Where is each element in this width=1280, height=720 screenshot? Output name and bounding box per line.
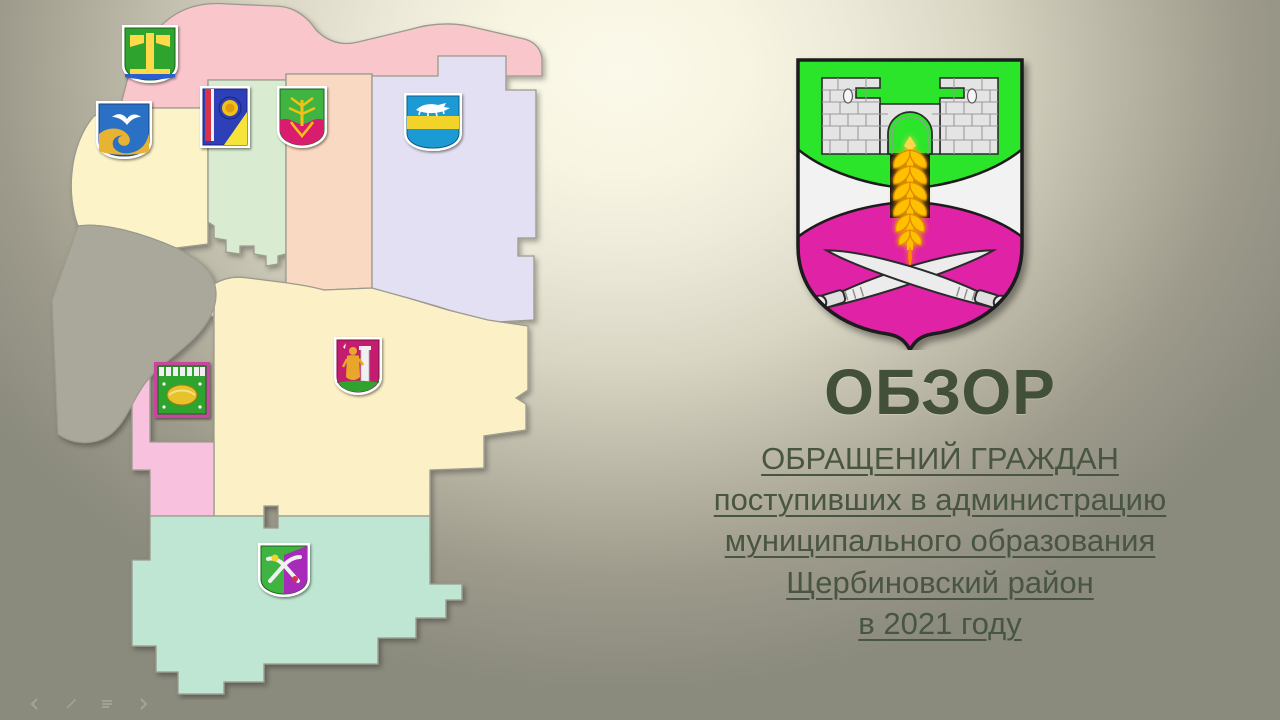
- glafirovskoe-emblem: [122, 25, 178, 83]
- shabelskoe-emblem: [96, 101, 152, 159]
- presenter-toolbar[interactable]: [26, 696, 152, 712]
- presentation-slide: ОБЗОР ОБРАЩЕНИЙ ГРАЖДАН поступивших в ад…: [0, 0, 1280, 720]
- ekaterinovskoe-emblem: [334, 337, 382, 395]
- nizhnedzhalginskoe-emblem: [154, 362, 210, 418]
- right-panel: ОБЗОР ОБРАЩЕНИЙ ГРАЖДАН поступивших в ад…: [600, 0, 1280, 720]
- staroshcherbinovskoe-emblem: [404, 93, 462, 151]
- menu-icon[interactable]: [98, 696, 116, 712]
- district-map: [28, 0, 628, 700]
- subtitle-line-1: ОБРАЩЕНИЙ ГРАЖДАН: [600, 438, 1280, 479]
- coat-of-arms-svg: [780, 50, 1040, 350]
- subtitle-line-4: Щербиновский район: [600, 562, 1280, 603]
- subtitle-line-3: муниципального образования: [600, 520, 1280, 561]
- subtitle-line-2: поступивших в администрацию: [600, 479, 1280, 520]
- novoshcherbinovskoe-emblem: [277, 86, 327, 148]
- page-title: ОБЗОР: [600, 360, 1280, 424]
- subtitle-line-5: в 2021 году: [600, 603, 1280, 644]
- chevron-right-icon[interactable]: [134, 696, 152, 712]
- coat-of-arms: [780, 50, 1040, 350]
- pen-icon[interactable]: [62, 696, 80, 712]
- chevron-left-icon[interactable]: [26, 696, 44, 712]
- district-map-svg: [28, 0, 628, 700]
- yuzhnoe-emblem: [258, 543, 310, 597]
- map-region-yuzhnoe: [132, 516, 462, 694]
- title-block: ОБЗОР ОБРАЩЕНИЙ ГРАЖДАН поступивших в ад…: [600, 360, 1280, 644]
- nikolaevskoe-emblem: [200, 86, 250, 148]
